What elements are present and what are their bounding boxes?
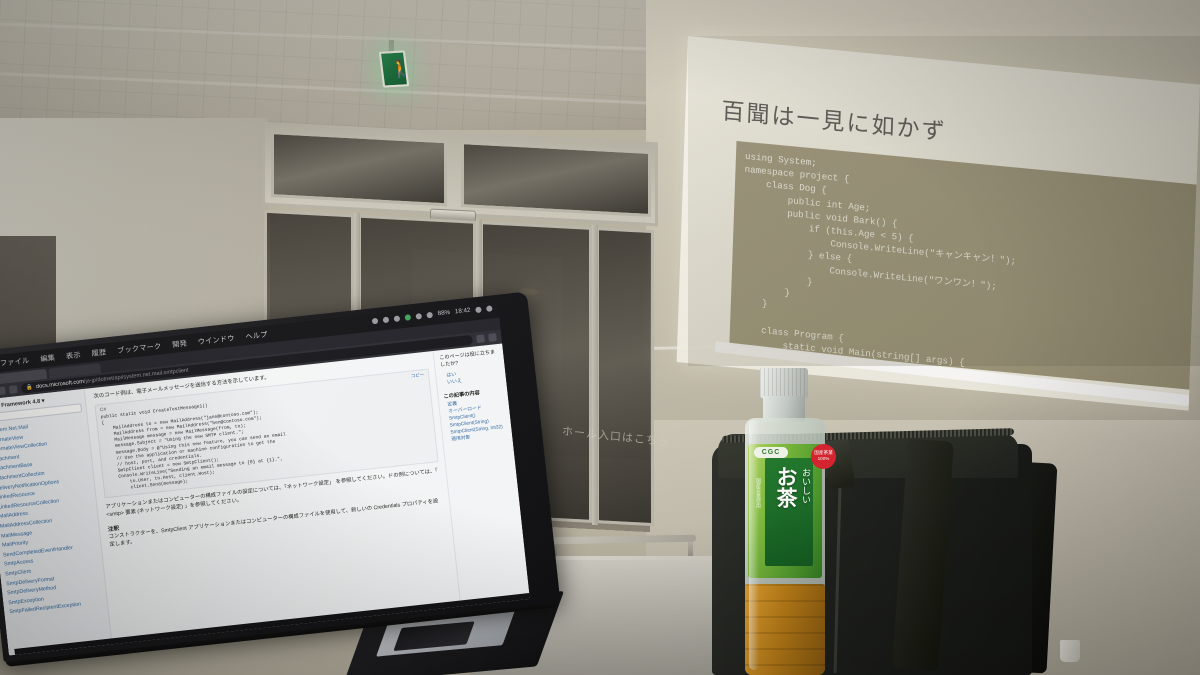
status-green-icon[interactable] (405, 314, 412, 321)
forward-icon[interactable] (0, 386, 6, 395)
tea-bottle: CGC 国産茶葉使用 おいしい お茶 国産茶葉 100% (736, 368, 834, 675)
menu-item-view[interactable]: 表示 (65, 350, 81, 362)
laptop-screen:  ファイル 編集 表示 履歴 ブックマーク 開発 ウインドウ ヘルプ (0, 301, 530, 656)
transom-glass-left (271, 131, 447, 206)
dropbox-icon[interactable] (372, 317, 379, 324)
url-host: docs.microsoft.com (36, 379, 85, 390)
control-center-icon[interactable] (486, 305, 493, 312)
product-name-main: お茶 (774, 466, 796, 508)
product-name-sub: おいしい (800, 468, 811, 504)
menu-item-file[interactable]: ファイル (0, 355, 30, 368)
projected-slide: 百聞は一見に如かず using System; namespace projec… (688, 36, 1200, 366)
laptop:  ファイル 編集 表示 履歴 ブックマーク 開発 ウインドウ ヘルプ (0, 288, 590, 675)
docs-page: .NET Framework 4.8 ▾ System.Net.Mail Alt… (0, 343, 530, 655)
bottle-cap[interactable] (760, 368, 808, 398)
clock: 18:42 (455, 307, 471, 316)
reload-icon[interactable] (9, 385, 18, 394)
transom-glass-right (461, 141, 651, 217)
padlock-icon: 🔒 (26, 384, 33, 391)
menu-item-help[interactable]: ヘルプ (245, 329, 268, 341)
menu-item-develop[interactable]: 開発 (172, 338, 188, 350)
bluetooth-icon[interactable] (394, 315, 401, 322)
menu-item-history[interactable]: 履歴 (91, 347, 107, 359)
cap-ribbing (760, 368, 808, 398)
photo-scene: 🚶 ホール入口はこちら ! ! (0, 0, 1200, 675)
menu-item-window[interactable]: ウインドウ (197, 333, 235, 347)
wifi-icon[interactable] (426, 311, 433, 318)
ceiling (0, 0, 700, 130)
emergency-exit-icon: 🚶 (379, 50, 409, 87)
ceiling-tile-grid (0, 0, 700, 130)
running-person-icon: 🚶 (389, 59, 403, 81)
volume-icon[interactable] (416, 313, 423, 320)
label-badge: 国産茶葉 100% (811, 444, 836, 469)
spotlight-icon[interactable] (475, 306, 482, 313)
docs-main-content: 次のコード例は、電子メールメッセージを送信する方法を示しています。 C# コピー… (85, 351, 461, 644)
door-leaf-fixed-right (596, 227, 654, 526)
laptop-lid:  ファイル 編集 表示 履歴 ブックマーク 開発 ウインドウ ヘルプ (0, 292, 560, 663)
menu-item-edit[interactable]: 編集 (40, 352, 56, 364)
cloud-icon[interactable] (383, 316, 390, 323)
bottle-label: CGC 国産茶葉使用 おいしい お茶 (748, 444, 822, 578)
menu-item-bookmarks[interactable]: ブックマーク (117, 341, 162, 356)
menu-hamburger-icon[interactable] (488, 333, 497, 342)
bottle-highlight (749, 420, 759, 670)
brand-logo: CGC (754, 447, 788, 458)
door-mullion (592, 225, 598, 525)
copy-button[interactable]: コピー (411, 372, 425, 379)
slide-surface: 百聞は一見に如かず using System; namespace projec… (677, 36, 1200, 411)
badge-line-2: 100% (811, 456, 836, 462)
bookmark-star-icon[interactable] (476, 334, 485, 343)
slide-title: 百聞は一見に如かず (721, 91, 947, 146)
paper-cup (1060, 640, 1080, 662)
battery-percent: 88% (437, 309, 450, 317)
